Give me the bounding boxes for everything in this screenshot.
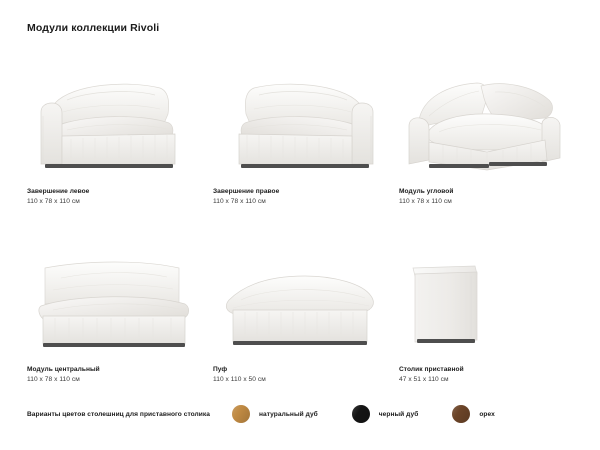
sofa-corner-icon: [399, 60, 573, 182]
swatch-color-dot[interactable]: [352, 405, 370, 423]
product-cell-center[interactable]: Модуль центральный 110 x 78 x 110 см: [27, 238, 201, 408]
swatch-color-dot[interactable]: [232, 405, 250, 423]
swatch-color-dot[interactable]: [452, 405, 470, 423]
product-image-end-left: [27, 60, 201, 182]
product-name: Модуль угловой: [399, 188, 453, 195]
product-caption: Модуль угловой 110 x 78 x 110 см: [399, 188, 453, 205]
product-cell-corner[interactable]: Модуль угловой 110 x 78 x 110 см: [399, 60, 573, 230]
product-name: Столик приставной: [399, 366, 464, 373]
product-dimensions: 110 x 110 x 50 см: [213, 376, 266, 383]
countertop-color-options: Варианты цветов столешниц для приставног…: [27, 405, 573, 423]
product-grid: Завершение левое 110 x 78 x 110 см: [27, 60, 573, 408]
product-image-pouf: [213, 238, 387, 360]
product-image-center: [27, 238, 201, 360]
swatch-list: натуральный дуб черный дуб орех: [232, 405, 495, 423]
product-caption: Завершение левое 110 x 78 x 110 см: [27, 188, 89, 205]
product-dimensions: 47 x 51 x 110 см: [399, 376, 464, 383]
sofa-end-right-icon: [213, 60, 387, 182]
product-caption: Пуф 110 x 110 x 50 см: [213, 366, 266, 383]
product-dimensions: 110 x 78 x 110 см: [27, 198, 89, 205]
product-row: Завершение левое 110 x 78 x 110 см: [27, 60, 573, 230]
product-image-side-table: [399, 238, 573, 360]
sofa-end-left-icon: [27, 60, 201, 182]
swatch-label: натуральный дуб: [259, 411, 318, 418]
sofa-center-icon: [27, 238, 201, 360]
swatch-option-black-oak[interactable]: черный дуб: [352, 405, 419, 423]
product-dimensions: 110 x 78 x 110 см: [27, 376, 100, 383]
product-caption: Столик приставной 47 x 51 x 110 см: [399, 366, 464, 383]
product-name: Завершение правое: [213, 188, 279, 195]
product-cell-end-right[interactable]: Завершение правое 110 x 78 x 110 см: [213, 60, 387, 230]
product-image-end-right: [213, 60, 387, 182]
product-dimensions: 110 x 78 x 110 см: [213, 198, 279, 205]
product-name: Модуль центральный: [27, 366, 100, 373]
product-row: Модуль центральный 110 x 78 x 110 см: [27, 238, 573, 408]
product-dimensions: 110 x 78 x 110 см: [399, 198, 453, 205]
product-name: Завершение левое: [27, 188, 89, 195]
product-caption: Завершение правое 110 x 78 x 110 см: [213, 188, 279, 205]
product-name: Пуф: [213, 366, 266, 373]
swatch-label: орех: [479, 411, 495, 418]
side-table-icon: [399, 238, 573, 360]
product-image-corner: [399, 60, 573, 182]
swatch-option-walnut[interactable]: орех: [452, 405, 495, 423]
product-cell-side-table[interactable]: Столик приставной 47 x 51 x 110 см: [399, 238, 573, 408]
swatch-section-title: Варианты цветов столешниц для приставног…: [27, 411, 210, 418]
swatch-option-natural-oak[interactable]: натуральный дуб: [232, 405, 318, 423]
product-cell-end-left[interactable]: Завершение левое 110 x 78 x 110 см: [27, 60, 201, 230]
product-catalog-page: Модули коллекции Rivoli: [0, 0, 600, 450]
page-title: Модули коллекции Rivoli: [27, 22, 159, 34]
product-cell-pouf[interactable]: Пуф 110 x 110 x 50 см: [213, 238, 387, 408]
pouf-icon: [213, 238, 387, 360]
product-caption: Модуль центральный 110 x 78 x 110 см: [27, 366, 100, 383]
swatch-label: черный дуб: [379, 411, 419, 418]
